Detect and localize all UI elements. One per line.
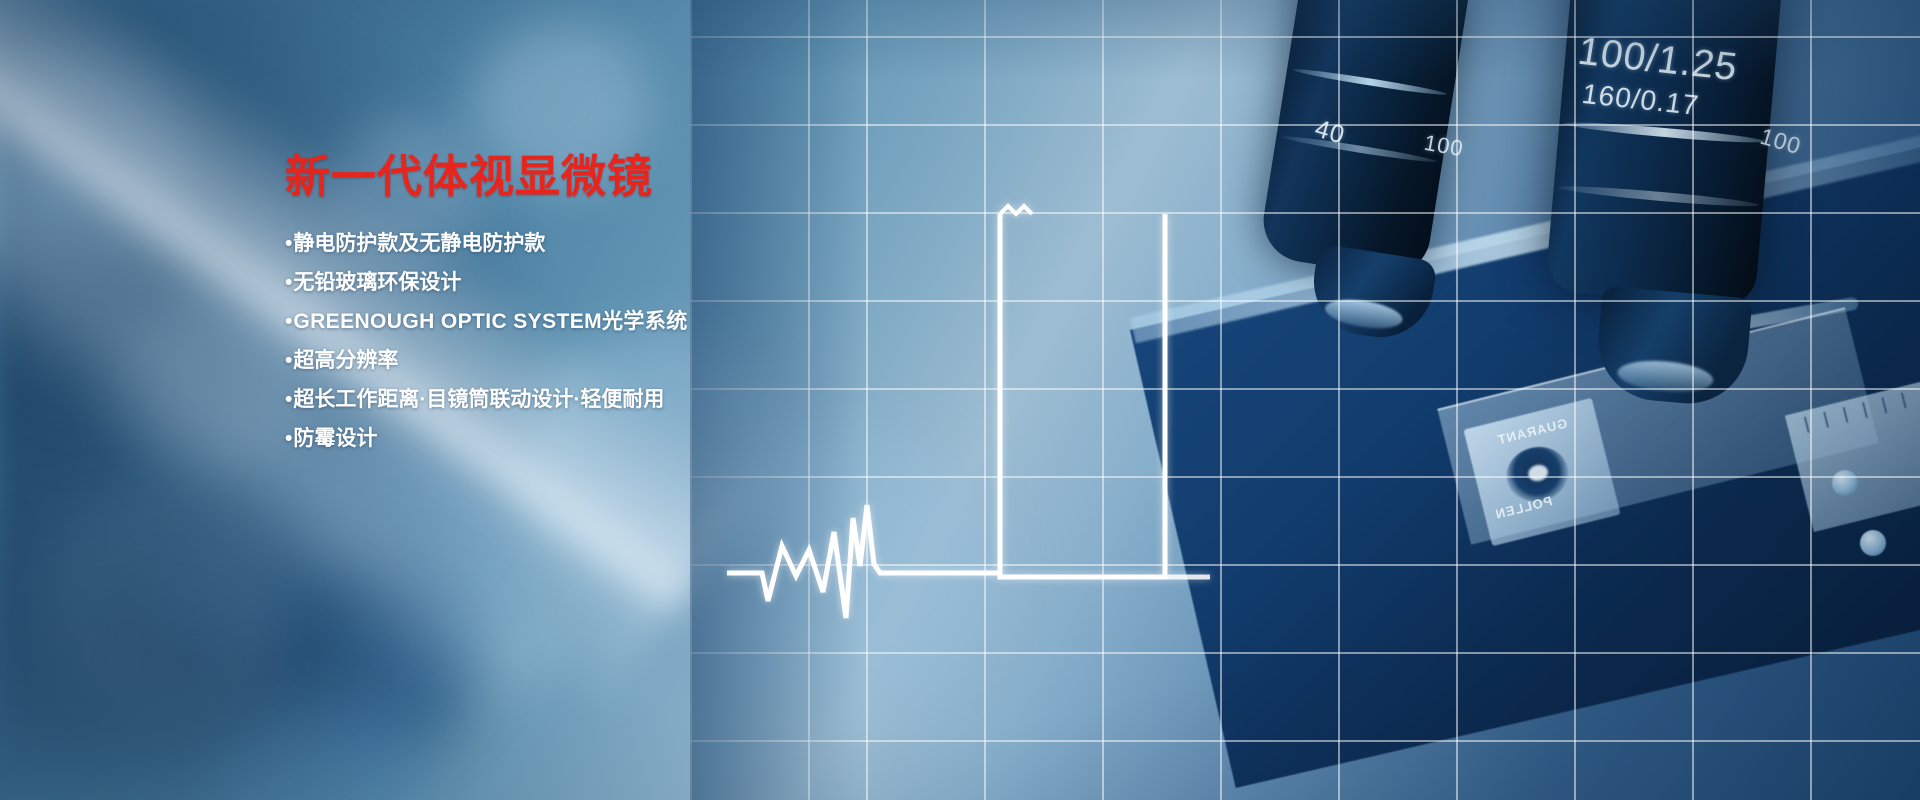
list-item: •超长工作距离·目镜筒联动设计·轻便耐用	[285, 389, 805, 410]
list-item: •无铅玻璃环保设计	[285, 272, 805, 293]
bullet-marker-icon: •	[285, 388, 292, 411]
bullet-marker-icon: •	[285, 271, 292, 294]
feature-text: 超长工作距离·目镜筒联动设计·轻便耐用	[293, 388, 664, 411]
feature-text: GREENOUGH OPTIC SYSTEM光学系统	[293, 310, 687, 333]
product-banner: GUARANT POLLEN 100/1.25 160/0.17	[0, 0, 1920, 800]
feature-text: 防霉设计	[293, 427, 377, 450]
bullet-marker-icon: •	[285, 310, 292, 333]
list-item: •静电防护款及无静电防护款	[285, 233, 805, 254]
bullet-marker-icon: •	[285, 349, 292, 372]
grid-overlay	[690, 0, 1920, 800]
feature-text: 超高分辨率	[293, 349, 398, 372]
list-item: •GREENOUGH OPTIC SYSTEM光学系统	[285, 311, 805, 332]
page-title: 新一代体视显微镜	[285, 150, 805, 203]
feature-text: 静电防护款及无静电防护款	[293, 232, 545, 255]
bullet-marker-icon: •	[285, 427, 292, 450]
copy-block: 新一代体视显微镜 •静电防护款及无静电防护款 •无铅玻璃环保设计 •GREENO…	[285, 150, 805, 467]
bullet-marker-icon: •	[285, 232, 292, 255]
list-item: •防霉设计	[285, 428, 805, 449]
feature-text: 无铅玻璃环保设计	[293, 271, 461, 294]
feature-list: •静电防护款及无静电防护款 •无铅玻璃环保设计 •GREENOUGH OPTIC…	[285, 233, 805, 449]
list-item: •超高分辨率	[285, 350, 805, 371]
